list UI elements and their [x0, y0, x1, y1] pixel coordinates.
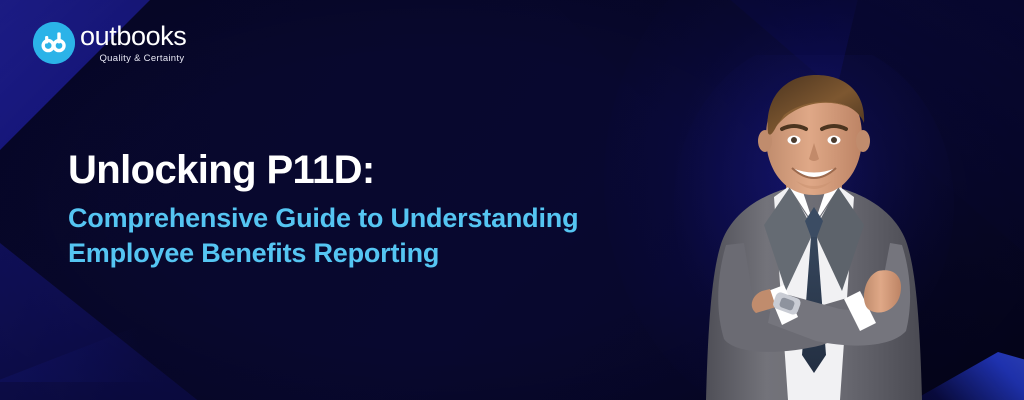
page-subtitle-line-1: Comprehensive Guide to Understanding [68, 201, 578, 236]
hero-banner: outbooks Quality & Certainty Unlocking P… [0, 0, 1024, 400]
ob-monogram-icon [33, 22, 75, 64]
logo-text-group: outbooks Quality & Certainty [80, 23, 186, 64]
page-subtitle: Comprehensive Guide to Understanding Emp… [68, 201, 578, 271]
logo-wordmark: outbooks [80, 23, 186, 50]
page-subtitle-line-2: Employee Benefits Reporting [68, 236, 578, 271]
businessman-photo [664, 55, 964, 400]
headline-block: Unlocking P11D: Comprehensive Guide to U… [68, 148, 578, 271]
outbooks-logo[interactable]: outbooks Quality & Certainty [33, 22, 186, 64]
logo-tagline: Quality & Certainty [99, 54, 184, 64]
page-title: Unlocking P11D: [68, 148, 578, 193]
